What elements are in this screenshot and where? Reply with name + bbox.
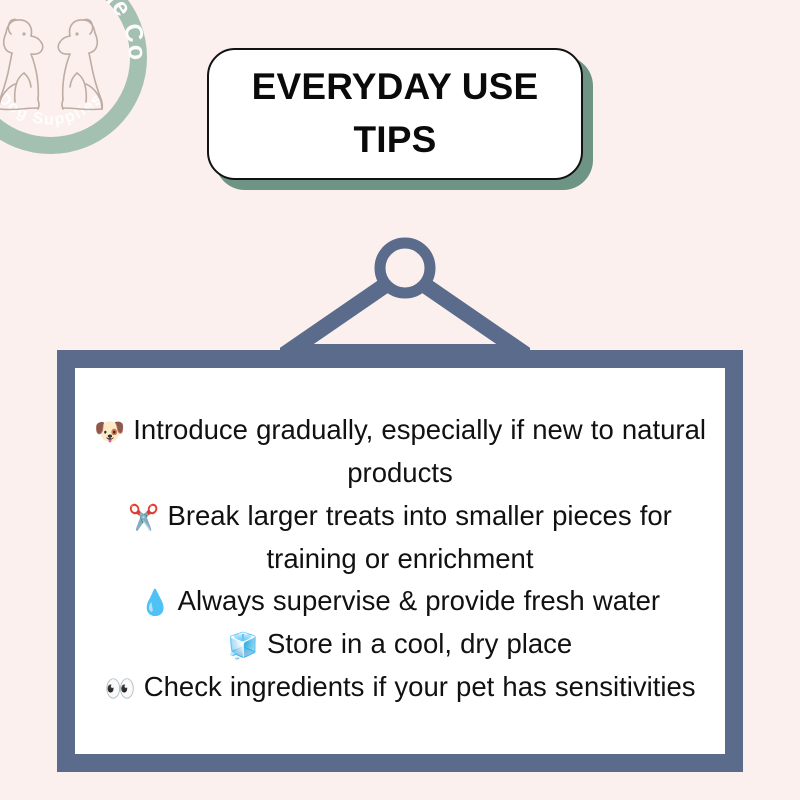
sign-hanger-icon <box>280 230 530 360</box>
hanging-sign-frame: 🐶 Introduce gradually, especially if new… <box>57 350 743 772</box>
page-title-line-1: EVERYDAY USE <box>252 61 539 114</box>
title-card: EVERYDAY USE TIPS <box>207 48 583 180</box>
watermark-brand-top: Charlie & Cookie Co. <box>0 0 151 62</box>
dog-face-emoji: 🐶 <box>94 418 125 446</box>
brand-watermark-logo: Charlie & Cookie Co. Dog Supplies <box>0 0 163 170</box>
page-title-line-2: TIPS <box>353 114 436 167</box>
hanger-ring-icon <box>380 243 430 293</box>
poster-canvas: Charlie & Cookie Co. Dog Supplies <box>0 0 800 800</box>
eyes-emoji: 👀 <box>104 675 135 703</box>
tip-item: 🧊 Store in a cool, dry place <box>90 623 710 666</box>
water-droplet-emoji: 💧 <box>140 589 171 617</box>
tip-text: Always supervise & provide fresh water <box>178 585 660 616</box>
tip-text: Check ingredients if your pet has sensit… <box>144 671 696 702</box>
tip-item: ✂️ Break larger treats into smaller piec… <box>90 495 710 581</box>
hanger-brackets <box>288 286 522 352</box>
watermark-dogs-graphic <box>0 20 102 110</box>
hanging-sign-face: 🐶 Introduce gradually, especially if new… <box>75 368 725 754</box>
ice-cube-emoji: 🧊 <box>228 632 259 660</box>
tip-text: Store in a cool, dry place <box>267 628 572 659</box>
watermark-brand-bottom: Dog Supplies <box>0 90 107 128</box>
tip-text: Break larger treats into smaller pieces … <box>167 500 671 574</box>
tip-item: 👀 Check ingredients if your pet has sens… <box>90 666 710 709</box>
tip-item: 🐶 Introduce gradually, especially if new… <box>90 409 710 495</box>
tip-item: 💧 Always supervise & provide fresh water <box>90 580 710 623</box>
tip-text: Introduce gradually, especially if new t… <box>133 414 706 488</box>
scissors-emoji: ✂️ <box>128 504 159 532</box>
